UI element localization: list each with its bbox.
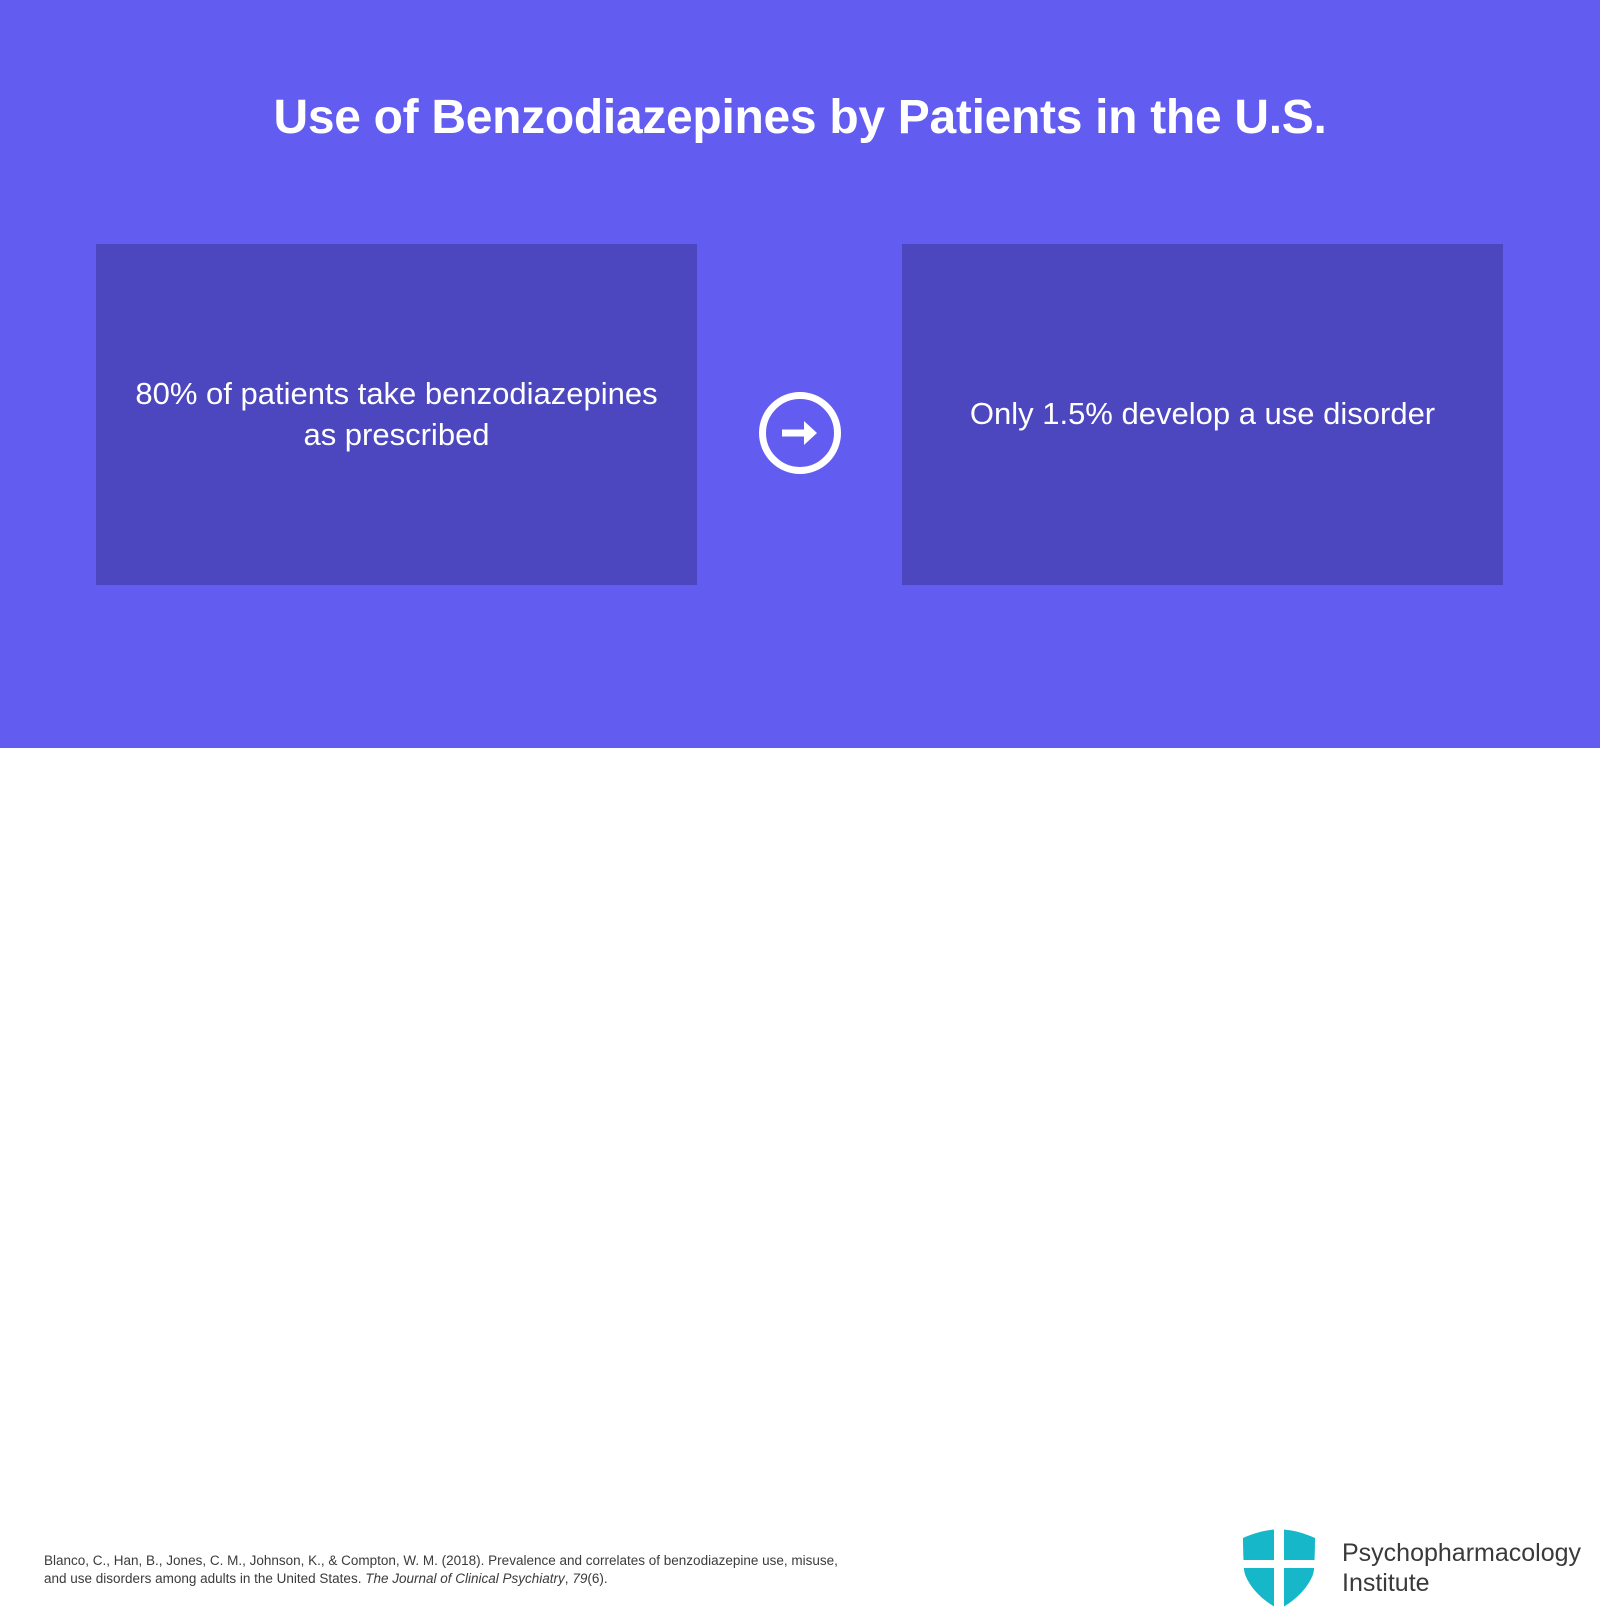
citation-issue: (6). bbox=[587, 1571, 607, 1586]
stat-card-text: Only 1.5% develop a use disorder bbox=[970, 394, 1435, 435]
stat-card-prescribed-use: 80% of patients take benzodiazepines as … bbox=[96, 244, 697, 585]
stat-card-text: 80% of patients take benzodiazepines as … bbox=[126, 374, 667, 456]
citation-journal-title: The Journal of Clinical Psychiatry bbox=[365, 1571, 565, 1586]
footer: Blanco, C., Han, B., Jones, C. M., Johns… bbox=[0, 748, 1600, 899]
brand-name-line-2: Institute bbox=[1342, 1568, 1581, 1599]
slide: Use of Benzodiazepines by Patients in th… bbox=[0, 0, 1600, 899]
stat-card-use-disorder: Only 1.5% develop a use disorder bbox=[902, 244, 1503, 585]
citation-separator: , bbox=[565, 1571, 573, 1586]
shield-icon bbox=[1240, 1527, 1318, 1609]
circle-arrow-right-icon bbox=[757, 390, 843, 476]
brand-logo: Psychopharmacology Institute bbox=[1240, 1527, 1581, 1609]
brand-name: Psychopharmacology Institute bbox=[1342, 1538, 1581, 1599]
slide-canvas: Use of Benzodiazepines by Patients in th… bbox=[0, 0, 1600, 748]
citation-reference: Blanco, C., Han, B., Jones, C. M., Johns… bbox=[44, 1552, 854, 1588]
citation-line-1: Blanco, C., Han, B., Jones, C. M., Johns… bbox=[44, 1553, 758, 1568]
citation-volume: 79 bbox=[572, 1571, 587, 1586]
page-title: Use of Benzodiazepines by Patients in th… bbox=[0, 90, 1600, 145]
brand-name-line-1: Psychopharmacology bbox=[1342, 1538, 1581, 1569]
